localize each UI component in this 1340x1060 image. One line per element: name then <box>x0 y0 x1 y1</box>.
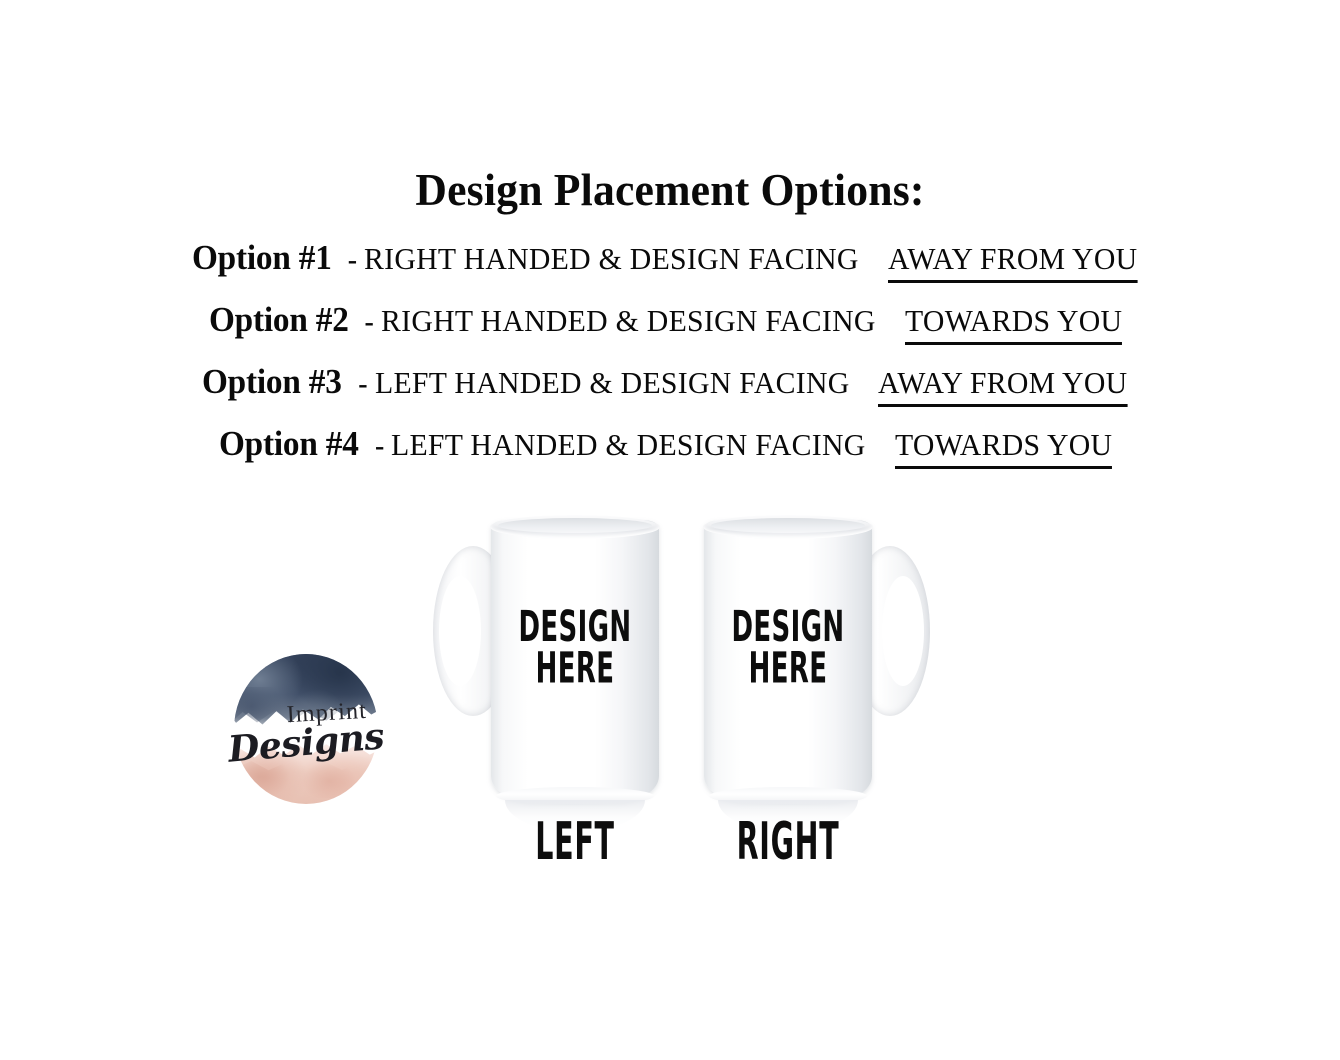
mug-rim <box>490 515 660 539</box>
option-label: Option #3 <box>202 362 342 402</box>
placement-options-list: Option #1 - RIGHT HANDED & DESIGN FACING… <box>0 238 1340 486</box>
option-dash: - <box>349 369 374 401</box>
mug-caption-right: RIGHT <box>728 812 849 872</box>
mug-rim-inner <box>498 518 652 533</box>
mug-rim <box>703 515 873 539</box>
option-description: RIGHT HANDED & DESIGN FACING <box>381 303 876 339</box>
option-row-1: Option #1 - RIGHT HANDED & DESIGN FACING… <box>192 238 1148 300</box>
mug-right: DESIGN HERE RIGHT <box>688 512 938 812</box>
brand-logo: Imprint Designs <box>234 648 378 814</box>
page-title: Design Placement Options: <box>20 168 1320 213</box>
mug-design-area: DESIGN HERE <box>722 606 853 688</box>
option-description: LEFT HANDED & DESIGN FACING <box>391 427 866 463</box>
design-line-1: DESIGN <box>509 606 640 647</box>
design-line-2: HERE <box>509 647 640 688</box>
mug-left: DESIGN HERE LEFT <box>425 512 675 812</box>
option-row-2: Option #2 - RIGHT HANDED & DESIGN FACING… <box>209 300 1132 362</box>
option-emphasis: AWAY FROM YOU <box>888 241 1137 283</box>
product-placement-graphic: Design Placement Options: Option #1 - RI… <box>0 0 1340 1060</box>
option-emphasis: AWAY FROM YOU <box>878 365 1127 407</box>
option-emphasis: TOWARDS YOU <box>905 303 1122 345</box>
design-line-2: HERE <box>722 647 853 688</box>
mug-caption-left: LEFT <box>515 812 636 872</box>
mug-body: DESIGN HERE <box>491 520 659 802</box>
mug-rim-inner <box>711 518 865 533</box>
option-label: Option #1 <box>192 238 332 278</box>
design-line-1: DESIGN <box>722 606 853 647</box>
option-dash: - <box>356 307 381 339</box>
option-dash: - <box>339 245 364 277</box>
mug-body: DESIGN HERE <box>704 520 872 802</box>
option-emphasis: TOWARDS YOU <box>895 427 1112 469</box>
option-row-4: Option #4 - LEFT HANDED & DESIGN FACING … <box>219 424 1121 486</box>
option-label: Option #2 <box>209 300 349 340</box>
option-label: Option #4 <box>219 424 359 464</box>
option-description: LEFT HANDED & DESIGN FACING <box>375 365 850 401</box>
mug-design-area: DESIGN HERE <box>509 606 640 688</box>
option-description: RIGHT HANDED & DESIGN FACING <box>364 241 859 277</box>
option-row-3: Option #3 - LEFT HANDED & DESIGN FACING … <box>202 362 1137 424</box>
option-dash: - <box>366 431 391 463</box>
